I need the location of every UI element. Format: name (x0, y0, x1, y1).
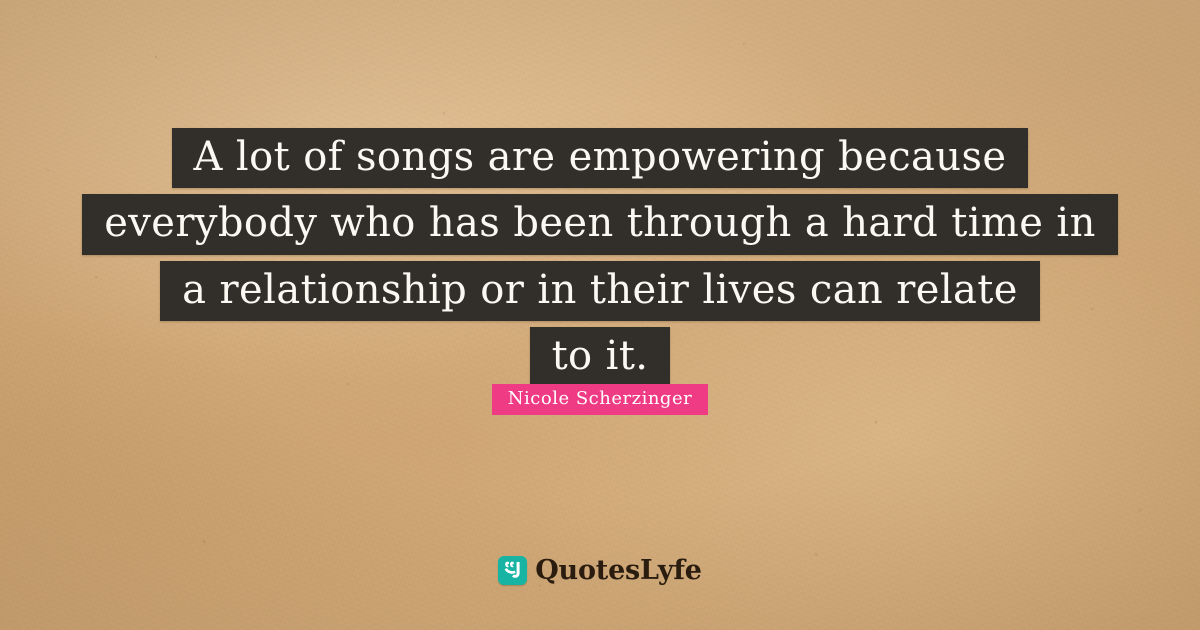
quoteslyfe-smiley-quote-icon (498, 556, 527, 585)
quote-card: A lot of songs are empowering because ev… (0, 0, 1200, 630)
brand-wordmark: QuotesLyfe (535, 557, 702, 584)
brand-footer[interactable]: QuotesLyfe (0, 556, 1200, 585)
author-name-badge[interactable]: Nicole Scherzinger (492, 384, 708, 415)
quote-line-3: a relationship or in their lives can rel… (160, 261, 1040, 321)
author-attribution: Nicole Scherzinger (0, 384, 1200, 415)
quote-text-block: A lot of songs are empowering because ev… (0, 128, 1200, 388)
quote-line-2: everybody who has been through a hard ti… (82, 194, 1118, 254)
quote-line-1: A lot of songs are empowering because (172, 128, 1029, 188)
quote-line-4: to it. (530, 327, 671, 387)
